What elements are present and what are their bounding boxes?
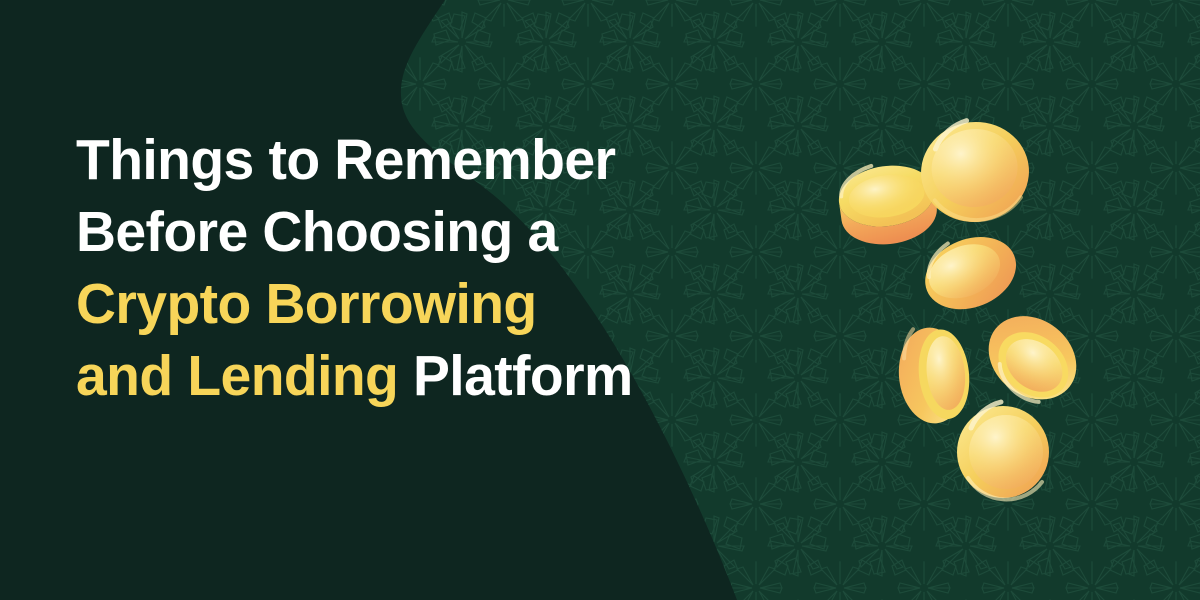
- headline-segment: Platform: [413, 344, 633, 408]
- headline-line-3: Crypto Borrowing: [76, 268, 774, 340]
- headline-segment-accent: and Lending: [76, 344, 413, 408]
- headline-segment: Before Choosing a: [76, 200, 558, 264]
- headline-line-4: and Lending Platform: [76, 340, 774, 412]
- headline-line-2: Before Choosing a: [76, 196, 774, 268]
- page-title: Things to Remember Before Choosing a Cry…: [76, 124, 796, 412]
- headline-segment-accent: Crypto Borrowing: [76, 272, 537, 336]
- headline-segment: Things to Remember: [76, 128, 615, 192]
- headline-line-1: Things to Remember: [76, 124, 774, 196]
- blog-banner: Things to Remember Before Choosing a Cry…: [0, 0, 1200, 600]
